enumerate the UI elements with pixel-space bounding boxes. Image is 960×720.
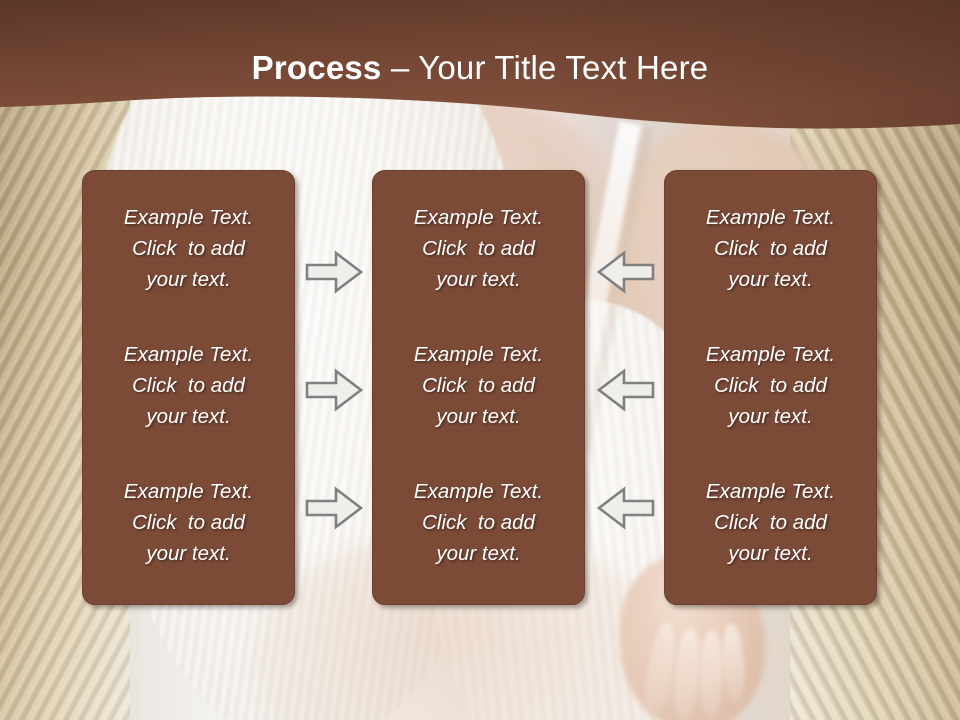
process-box-column-2[interactable]: Example Text. Click to add your text. Ex… bbox=[372, 170, 585, 605]
arrow-left-icon[interactable] bbox=[597, 485, 655, 531]
process-text-item[interactable]: Example Text. Click to add your text. bbox=[677, 339, 864, 432]
process-box-column-1[interactable]: Example Text. Click to add your text. Ex… bbox=[82, 170, 295, 605]
process-text-item[interactable]: Example Text. Click to add your text. bbox=[385, 339, 572, 432]
title-banner: Process – Your Title Text Here bbox=[0, 0, 960, 140]
process-text-item[interactable]: Example Text. Click to add your text. bbox=[385, 476, 572, 569]
process-text-item[interactable]: Example Text. Click to add your text. bbox=[677, 202, 864, 295]
process-text-item[interactable]: Example Text. Click to add your text. bbox=[95, 339, 282, 432]
arrow-left-icon[interactable] bbox=[597, 367, 655, 413]
page-title-bold: Process bbox=[252, 49, 382, 86]
arrow-left-icon[interactable] bbox=[597, 249, 655, 295]
arrow-right-icon[interactable] bbox=[305, 367, 363, 413]
process-text-item[interactable]: Example Text. Click to add your text. bbox=[677, 476, 864, 569]
page-title: Process – Your Title Text Here bbox=[0, 48, 960, 88]
process-box-column-3[interactable]: Example Text. Click to add your text. Ex… bbox=[664, 170, 877, 605]
process-text-item[interactable]: Example Text. Click to add your text. bbox=[95, 202, 282, 295]
slide-canvas: Process – Your Title Text Here Example T… bbox=[0, 0, 960, 720]
arrow-right-icon[interactable] bbox=[305, 485, 363, 531]
arrow-right-icon[interactable] bbox=[305, 249, 363, 295]
page-title-rest: – Your Title Text Here bbox=[381, 49, 708, 86]
process-text-item[interactable]: Example Text. Click to add your text. bbox=[95, 476, 282, 569]
process-text-item[interactable]: Example Text. Click to add your text. bbox=[385, 202, 572, 295]
